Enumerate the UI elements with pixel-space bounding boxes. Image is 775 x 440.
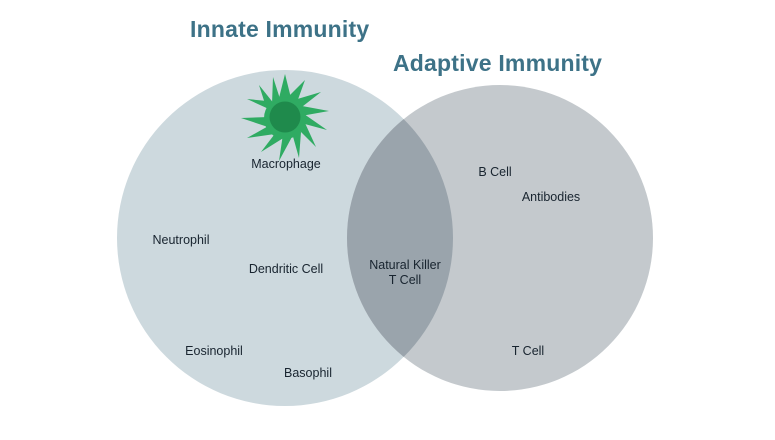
venn-diagram-graphic [0,0,775,440]
t-cell-label: T Cell [503,344,553,359]
b-cell-label: B Cell [467,165,523,180]
macrophage-label: Macrophage [251,157,321,172]
neutrophil-label: Neutrophil [145,233,217,248]
nk-t-cell-label-line1: Natural Killer [359,258,451,273]
dendritic-cell-label: Dendritic Cell [240,262,332,277]
innate-immunity-title: Innate Immunity [190,16,369,43]
nk-t-cell-label-line2: T Cell [359,273,451,288]
basophil-label: Basophil [277,366,339,381]
adaptive-immunity-title: Adaptive Immunity [393,50,602,77]
venn-diagram-canvas: Macrophage Neutrophil [0,0,775,440]
eosinophil-label: Eosinophil [179,344,249,359]
antibodies-label: Antibodies [511,190,591,205]
